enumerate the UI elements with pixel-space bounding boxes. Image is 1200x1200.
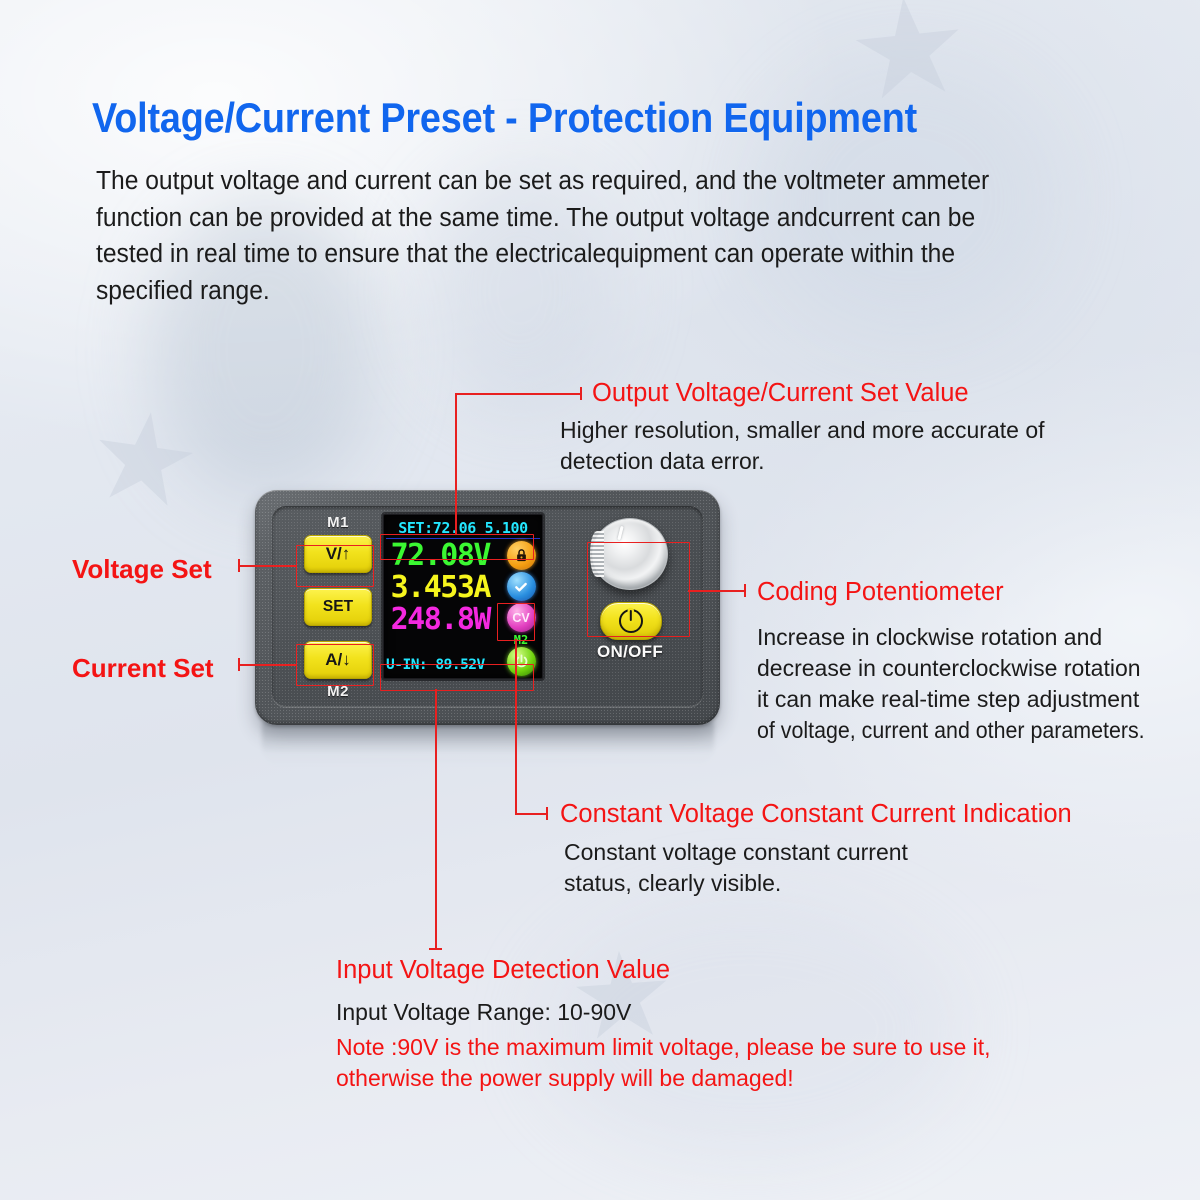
callout-current-set-label: Current Set [72, 653, 214, 684]
set-button[interactable]: SET [304, 588, 372, 626]
callout-tick-current-set [238, 658, 240, 671]
power-glyph-icon [619, 609, 643, 633]
callout-input-note-line2: otherwise the power supply will be damag… [336, 1063, 794, 1094]
callout-knob-line1: Increase in clockwise rotation and [757, 622, 1102, 653]
lcd-set-line: SET:72.06 5.100 [386, 518, 540, 537]
callout-line-current-set [238, 664, 296, 666]
callout-knob-line4: of voltage, current and other parameters… [757, 715, 1145, 746]
voltage-up-button[interactable]: V/↑ [304, 535, 372, 573]
background-watermark-left: ★ [87, 389, 203, 530]
callout-input-range: Input Voltage Range: 10-90V [336, 997, 631, 1028]
lcd-input-line: U-IN: 89.52V [386, 655, 536, 675]
callout-tick-output [580, 387, 582, 400]
lcd-current-value: 3.453A [386, 572, 492, 604]
callout-voltage-set-label: Voltage Set [72, 554, 212, 585]
intro-paragraph: The output voltage and current can be se… [96, 163, 1013, 309]
callout-line-knob [688, 590, 746, 592]
callout-tick-cv [546, 807, 548, 820]
callout-line-output-vertical [455, 393, 457, 535]
callout-cv-line1: Constant voltage constant current [564, 837, 908, 868]
callout-line-cv-vertical [515, 639, 517, 814]
current-down-button[interactable]: A/↓ [304, 641, 372, 679]
page-title: Voltage/Current Preset - Protection Equi… [92, 96, 1001, 141]
callout-output-body: Higher resolution, smaller and more accu… [560, 415, 1100, 477]
lcd-power-value: 248.8W [386, 604, 492, 636]
callout-input-note-line1: Note :90V is the maximum limit voltage, … [336, 1032, 991, 1063]
lcd-readouts: 72.08V 3.453A 248.8W [386, 540, 492, 636]
lcd-screen: SET:72.06 5.100 72.08V 3.453A 248.8W [383, 514, 543, 679]
callout-line-cv-horizontal [515, 813, 548, 815]
onoff-label: ON/OFF [575, 642, 685, 662]
device-reflection [262, 722, 714, 766]
background-blur-bottom [540, 900, 960, 1160]
cv-icon: CV [507, 603, 536, 632]
button-column: M1 V/↑ SET A/↓ M2 [299, 514, 377, 700]
onoff-button[interactable] [600, 602, 662, 640]
callout-tick-knob [744, 584, 746, 597]
rotary-encoder-knob[interactable] [592, 518, 668, 590]
memory-label-m2: M2 [299, 683, 377, 700]
callout-line-output-horizontal [455, 393, 582, 395]
power-supply-module: M1 V/↑ SET A/↓ M2 SET:72.06 5.100 72.08V… [255, 490, 720, 725]
lcd-voltage-value: 72.08V [386, 540, 492, 572]
callout-line-voltage-set [238, 565, 296, 567]
check-icon [507, 572, 536, 601]
callout-tick-voltage-set [238, 559, 240, 572]
callout-knob-line3: it can make real-time step adjustment [757, 684, 1139, 715]
callout-knob-title: Coding Potentiometer [757, 577, 1004, 607]
callout-cv-line2: status, clearly visible. [564, 868, 781, 899]
callout-cv-title: Constant Voltage Constant Current Indica… [560, 799, 1072, 829]
memory-label-m1: M1 [299, 514, 377, 531]
infographic-page: ★ ★ ★ Voltage/Current Preset - Protectio… [0, 0, 1200, 1200]
callout-output-title: Output Voltage/Current Set Value [592, 378, 969, 408]
callout-input-title: Input Voltage Detection Value [336, 955, 670, 985]
callout-knob-line2: decrease in counterclockwise rotation [757, 653, 1141, 684]
callout-tick-input [429, 948, 442, 950]
callout-line-input-vertical [435, 689, 437, 949]
lock-icon [507, 541, 536, 570]
